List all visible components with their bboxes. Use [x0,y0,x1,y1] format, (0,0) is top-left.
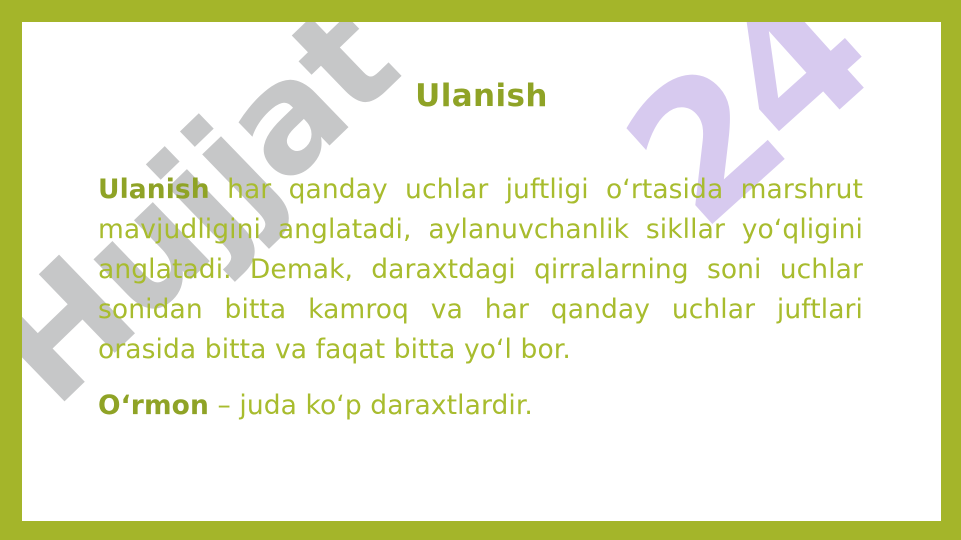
page-title: Ulanish [22,78,941,114]
slide-canvas: 24 Hujjat Ulanish Ulanish har qanday uch… [22,22,941,521]
paragraph-forest-text: – juda koʻp daraxtlardir. [209,390,533,421]
paragraph-definition-text: har qanday uchlar juftligi oʻrtasida mar… [98,174,863,365]
paragraph-forest: Oʻrmon – juda koʻp daraxtlardir. [98,386,863,426]
body-text-block: Ulanish har qanday uchlar juftligi oʻrta… [98,170,863,426]
paragraph-definition: Ulanish har qanday uchlar juftligi oʻrta… [98,170,863,370]
slide: 24 Hujjat Ulanish Ulanish har qanday uch… [0,0,961,540]
paragraph-definition-lead-term: Ulanish [98,174,210,205]
paragraph-forest-lead-term: Oʻrmon [98,390,209,421]
